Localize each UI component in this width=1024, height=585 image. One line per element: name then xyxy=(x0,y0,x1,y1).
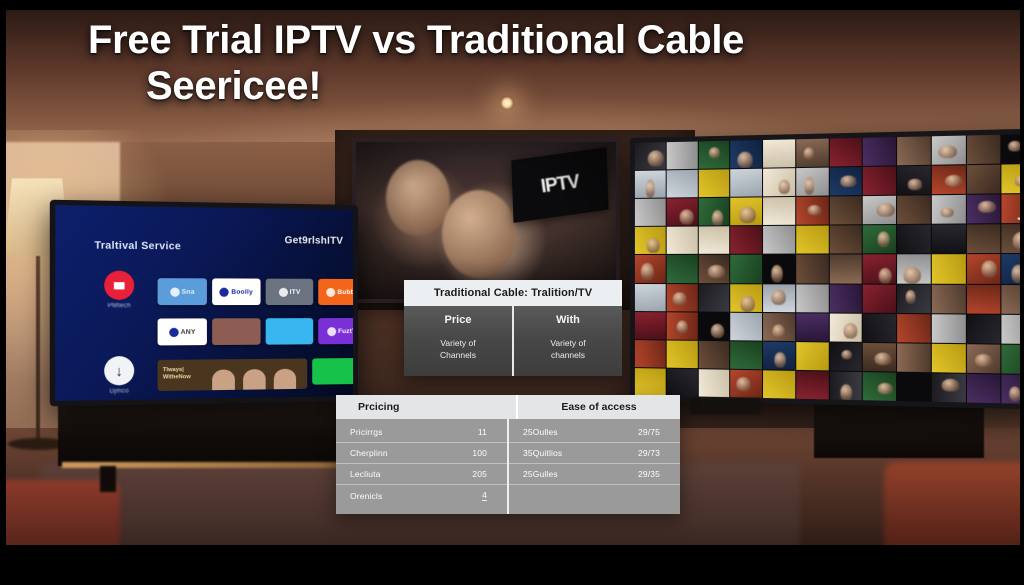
thumbnail-face xyxy=(647,238,660,254)
thumbnail-face xyxy=(978,201,995,212)
content-thumbnail xyxy=(666,170,697,198)
content-thumbnail xyxy=(635,227,665,254)
content-thumbnail xyxy=(635,142,665,170)
table-cell-value: 29/35 xyxy=(638,469,660,479)
table-row-spacer xyxy=(509,485,680,505)
content-thumbnail xyxy=(897,284,930,313)
comparison-bottom-body: Pricirrgs11Cherplinn100Lecliuta205Orenic… xyxy=(336,419,680,514)
content-thumbnail xyxy=(763,226,795,254)
thumbnail-face xyxy=(804,147,814,160)
center-background-tv: IPTV xyxy=(352,138,620,303)
comparison-top-subtext-1: Variety ofchannels xyxy=(520,337,616,362)
thumbnail-face xyxy=(736,377,750,391)
content-thumbnail xyxy=(666,369,697,397)
thumbnail-face xyxy=(982,260,997,278)
comparison-bottom-header-pricing: Prcicing xyxy=(336,395,516,419)
content-thumbnail xyxy=(666,340,697,368)
content-thumbnail xyxy=(966,374,1000,403)
thumbnail-face xyxy=(905,290,915,304)
content-thumbnail xyxy=(796,342,828,370)
floor-lamp-pole xyxy=(36,256,40,442)
thumbnail-face xyxy=(941,379,958,392)
thumbnail-face xyxy=(805,177,815,194)
media-console xyxy=(58,398,358,466)
table-row: Lecliuta205 xyxy=(336,464,507,485)
content-thumbnail xyxy=(730,370,762,398)
sidebar-item-download[interactable]: Djmco xyxy=(94,356,143,395)
content-thumbnail xyxy=(730,284,762,312)
comparison-panel-top: Traditional Cable: Tralition/TV Price Va… xyxy=(404,280,622,376)
content-thumbnail xyxy=(730,341,762,369)
app-tile-badge xyxy=(327,327,336,336)
table-cell-key: Orenicls xyxy=(350,491,382,501)
download-icon xyxy=(104,356,134,386)
sofa-right xyxy=(884,462,1024,545)
thumbnail-face xyxy=(641,263,653,280)
content-thumbnail xyxy=(796,197,828,225)
content-thumbnail xyxy=(698,341,729,369)
thumbnail-face xyxy=(772,290,786,305)
content-thumbnail xyxy=(863,137,896,166)
thumbnail-face xyxy=(212,369,235,390)
content-thumbnail xyxy=(796,313,828,341)
app-tile-row-1: SnaBoollyITVBubbiBrisw xyxy=(158,278,353,305)
thumbnail-face xyxy=(274,369,296,390)
content-thumbnail xyxy=(730,169,762,197)
content-thumbnail xyxy=(635,340,665,368)
content-thumbnail xyxy=(698,169,729,197)
comparison-panel-bottom: Prcicing Ease of access Pricirrgs11Cherp… xyxy=(336,395,680,514)
comparison-top-header-1: With xyxy=(520,314,616,326)
table-cell-value: 4 xyxy=(482,490,487,501)
thumbnail-face xyxy=(844,323,858,339)
content-thumbnail xyxy=(897,196,930,225)
content-thumbnail xyxy=(897,314,930,343)
thumbnail-face xyxy=(676,320,687,333)
thumbnail-face xyxy=(707,265,724,278)
content-thumbnail xyxy=(932,165,966,194)
content-thumbnail xyxy=(666,198,697,226)
app-tile-row-2: ANYANYReoneSisteoFuztT xyxy=(158,318,353,346)
content-thumbnail xyxy=(932,314,966,343)
center-tv-vignette xyxy=(356,142,616,299)
left-tv-brand-label: Get9rlshITV xyxy=(285,235,344,247)
thumbnail-face xyxy=(807,205,821,215)
content-thumbnail xyxy=(666,284,697,312)
app-tile-badge xyxy=(326,287,335,296)
content-thumbnail xyxy=(932,225,966,254)
content-thumbnail xyxy=(863,255,896,283)
app-tile-label: ANY xyxy=(181,328,196,335)
content-thumbnail xyxy=(635,312,665,340)
play-icon xyxy=(104,271,134,300)
content-thumbnail xyxy=(763,370,795,398)
content-thumbnail xyxy=(966,344,1000,373)
letterbox-top xyxy=(0,0,1024,10)
left-tv-smart-home-screen: Traltival Service Get9rlshITV PMtech Djm… xyxy=(50,200,358,407)
content-thumbnail xyxy=(863,225,896,253)
app-tile-label: ITV xyxy=(290,288,301,295)
content-thumbnail xyxy=(730,312,762,340)
thumbnail-face xyxy=(737,151,753,168)
left-tv-screen: Traltival Service Get9rlshITV PMtech Djm… xyxy=(55,205,353,401)
content-thumbnail xyxy=(698,255,729,283)
table-row: 35Quitlios29/73 xyxy=(509,443,680,464)
thumbnail-face xyxy=(878,267,891,283)
right-tv-stand xyxy=(690,398,760,414)
content-thumbnail xyxy=(635,368,665,396)
title-line-2: Seericee! xyxy=(88,64,936,110)
content-thumbnail xyxy=(829,226,862,254)
thumbnail-face xyxy=(739,206,756,223)
table-row: 25Oulles29/75 xyxy=(509,422,680,443)
content-thumbnail xyxy=(730,255,762,283)
app-tile[interactable]: ReoneSisteo xyxy=(212,318,260,345)
content-thumbnail xyxy=(829,138,862,167)
app-tile-label: Tlways|WitheNow xyxy=(163,367,191,382)
app-tile-label: Boolly xyxy=(231,288,253,295)
table-cell-key: Pricirrgs xyxy=(350,427,383,437)
content-thumbnail xyxy=(730,198,762,226)
content-thumbnail xyxy=(763,284,795,312)
table-cell-value: 29/75 xyxy=(638,427,660,437)
comparison-top-title: Traditional Cable: Tralition/TV xyxy=(404,280,622,306)
thumbnail-label xyxy=(797,369,827,370)
left-tv-heading: Traltival Service xyxy=(94,240,181,252)
content-thumbnail xyxy=(897,255,930,284)
content-thumbnail xyxy=(698,312,729,340)
thumbnail-face xyxy=(679,210,693,225)
screenshot-stage: IPTV ★ Traltival Service Get9rlshITV PMt… xyxy=(0,0,1024,585)
comparison-top-subtext-0: Variety ofChannels xyxy=(410,337,506,362)
app-tile-label: FuztT xyxy=(338,328,353,335)
thumbnail-face xyxy=(1009,387,1020,401)
letterbox-right xyxy=(1020,0,1024,585)
content-thumbnail xyxy=(635,284,665,311)
app-tile-label: Bubbi xyxy=(337,288,353,295)
content-thumbnail xyxy=(698,369,729,397)
sidebar-item-play-label: PMtech xyxy=(94,303,143,309)
comparison-bottom-column-left: Pricirrgs11Cherplinn100Lecliuta205Orenic… xyxy=(336,419,507,514)
thumbnail-face xyxy=(904,267,921,283)
table-cell-value: 29/73 xyxy=(638,448,660,458)
thumbnail-label xyxy=(764,397,794,398)
comparison-bottom-column-right: 25Oulles29/7535Quitlios29/7325Gulles29/3… xyxy=(507,419,680,514)
thumbnail-face xyxy=(877,203,895,217)
content-thumbnail xyxy=(666,255,697,282)
table-row: Orenicls4 xyxy=(336,485,507,506)
table-row: 25Gulles29/35 xyxy=(509,464,680,485)
table-cell-value: 205 xyxy=(472,469,487,479)
content-thumbnail xyxy=(763,255,795,283)
thumbnail-face xyxy=(772,324,784,339)
content-thumbnail xyxy=(635,255,665,282)
comparison-top-body: Price Variety ofChannels With Variety of… xyxy=(404,306,622,376)
content-thumbnail xyxy=(897,373,930,402)
thumbnail-face xyxy=(645,180,654,198)
thumbnail-face xyxy=(841,350,852,360)
content-thumbnail xyxy=(763,313,795,341)
table-cell-value: 11 xyxy=(478,427,487,437)
app-tile[interactable]: Sna xyxy=(158,278,207,305)
content-thumbnail xyxy=(932,284,966,313)
table-row: Pricirrgs11 xyxy=(336,422,507,443)
app-tile[interactable]: ITV xyxy=(266,279,314,305)
content-thumbnail xyxy=(863,196,896,225)
content-thumbnail xyxy=(966,165,1000,194)
app-tile[interactable]: ANYANY xyxy=(158,318,207,345)
thumbnail-face xyxy=(840,176,855,187)
content-thumbnail xyxy=(796,255,828,283)
app-tile[interactable]: Bubbi xyxy=(318,279,353,305)
content-thumbnail xyxy=(698,141,729,169)
content-thumbnail xyxy=(829,342,862,371)
content-thumbnail xyxy=(796,371,828,400)
content-thumbnail xyxy=(966,135,1000,164)
thumbnail-face xyxy=(243,369,266,390)
comparison-bottom-header-ease: Ease of access xyxy=(516,395,680,419)
content-thumbnail xyxy=(863,343,896,372)
content-thumbnail xyxy=(966,255,1000,284)
content-thumbnail xyxy=(829,313,862,341)
thumbnail-face xyxy=(875,353,892,366)
content-thumbnail xyxy=(863,313,896,342)
content-thumbnail xyxy=(730,140,762,168)
content-thumbnail xyxy=(666,312,697,340)
app-tile-row-3: Tlways|WitheNowSanerlul xyxy=(158,357,353,390)
thumbnail-face xyxy=(740,295,755,311)
content-thumbnail xyxy=(897,225,930,254)
content-thumbnail xyxy=(897,166,930,195)
content-thumbnail xyxy=(666,142,697,170)
content-thumbnail xyxy=(897,136,930,165)
app-tile-label: Sna xyxy=(182,288,195,295)
thumbnail-face xyxy=(712,210,723,226)
media-console-right xyxy=(814,402,984,458)
content-thumbnail xyxy=(863,284,896,312)
content-thumbnail xyxy=(763,341,795,369)
comparison-top-header-0: Price xyxy=(410,314,506,326)
thumbnail-face xyxy=(877,383,893,394)
app-tile[interactable] xyxy=(312,358,353,385)
content-thumbnail xyxy=(698,227,729,255)
thumbnail-face xyxy=(648,150,663,166)
thumbnail-face xyxy=(711,324,725,339)
thumbnail-face xyxy=(673,292,687,305)
app-tile-badge xyxy=(220,287,229,296)
app-tile[interactable] xyxy=(266,318,314,345)
content-thumbnail xyxy=(666,227,697,255)
comparison-top-column-with: With Variety ofchannels xyxy=(512,306,622,376)
thumbnail-face xyxy=(775,352,786,367)
content-thumbnail xyxy=(966,314,1000,343)
table-row: Cherplinn100 xyxy=(336,443,507,464)
thumbnail-face xyxy=(939,145,957,158)
content-thumbnail xyxy=(698,284,729,312)
right-tv-content-mosaic: ★ xyxy=(630,128,1024,409)
table-cell-key: Cherplinn xyxy=(350,448,388,458)
app-tile-badge xyxy=(169,327,178,336)
content-thumbnail xyxy=(829,196,862,224)
table-cell-value: 100 xyxy=(472,448,487,458)
content-thumbnail xyxy=(763,197,795,225)
app-tile-badge xyxy=(279,287,288,296)
content-thumbnail xyxy=(863,167,896,196)
content-thumbnail-grid: ★ xyxy=(635,134,1024,404)
content-thumbnail xyxy=(796,284,828,312)
content-thumbnail xyxy=(796,139,828,168)
page-title: Free Trial IPTV vs Traditional Cable See… xyxy=(0,18,1024,109)
thumbnail-face xyxy=(877,231,889,247)
comparison-bottom-header-row: Prcicing Ease of access xyxy=(336,395,680,419)
thumbnail-face xyxy=(771,265,783,282)
app-tile[interactable]: Tlways|WitheNow xyxy=(158,358,308,391)
table-cell-key: Lecliuta xyxy=(350,469,381,479)
table-cell-key: 35Quitlios xyxy=(523,448,562,458)
app-tile[interactable]: Boolly xyxy=(212,278,260,305)
comparison-top-column-price: Price Variety ofChannels xyxy=(404,306,512,376)
table-cell-key: 25Gulles xyxy=(523,469,558,479)
content-thumbnail xyxy=(863,372,896,401)
thumbnail-face xyxy=(940,208,954,218)
content-thumbnail xyxy=(932,344,966,373)
sidebar-item-download-label: Djmco xyxy=(94,388,143,395)
content-thumbnail xyxy=(698,198,729,226)
thumbnail-face xyxy=(975,354,992,367)
thumbnail-face xyxy=(709,147,721,159)
content-thumbnail xyxy=(829,284,862,312)
media-console-leg xyxy=(100,466,116,492)
content-thumbnail xyxy=(966,225,1000,254)
content-thumbnail xyxy=(796,168,828,196)
table-cell-key: 25Oulles xyxy=(523,427,558,437)
letterbox-bottom xyxy=(0,545,1024,585)
letterbox-left xyxy=(0,0,6,585)
content-thumbnail xyxy=(829,371,862,400)
content-thumbnail xyxy=(829,255,862,283)
app-tile[interactable]: FuztT xyxy=(318,318,353,344)
content-thumbnail xyxy=(932,255,966,284)
content-thumbnail xyxy=(635,199,665,227)
content-thumbnail xyxy=(763,139,795,167)
content-thumbnail xyxy=(763,168,795,196)
thumbnail-face xyxy=(907,179,922,190)
content-thumbnail xyxy=(635,170,665,198)
content-thumbnail xyxy=(932,373,966,402)
content-thumbnail xyxy=(932,195,966,224)
content-thumbnail xyxy=(829,167,862,196)
content-thumbnail xyxy=(730,226,762,254)
content-thumbnail xyxy=(966,195,1000,224)
content-thumbnail xyxy=(897,343,930,372)
sidebar-item-play[interactable]: PMtech xyxy=(94,271,143,310)
thumbnail-face xyxy=(945,175,963,187)
title-line-1: Free Trial IPTV vs Traditional Cable xyxy=(88,18,936,64)
thumbnail-face xyxy=(840,384,852,400)
content-thumbnail xyxy=(966,284,1000,313)
thumbnail-face xyxy=(778,179,790,194)
content-thumbnail xyxy=(796,226,828,254)
app-tile-badge xyxy=(170,287,179,296)
content-thumbnail xyxy=(932,136,966,165)
